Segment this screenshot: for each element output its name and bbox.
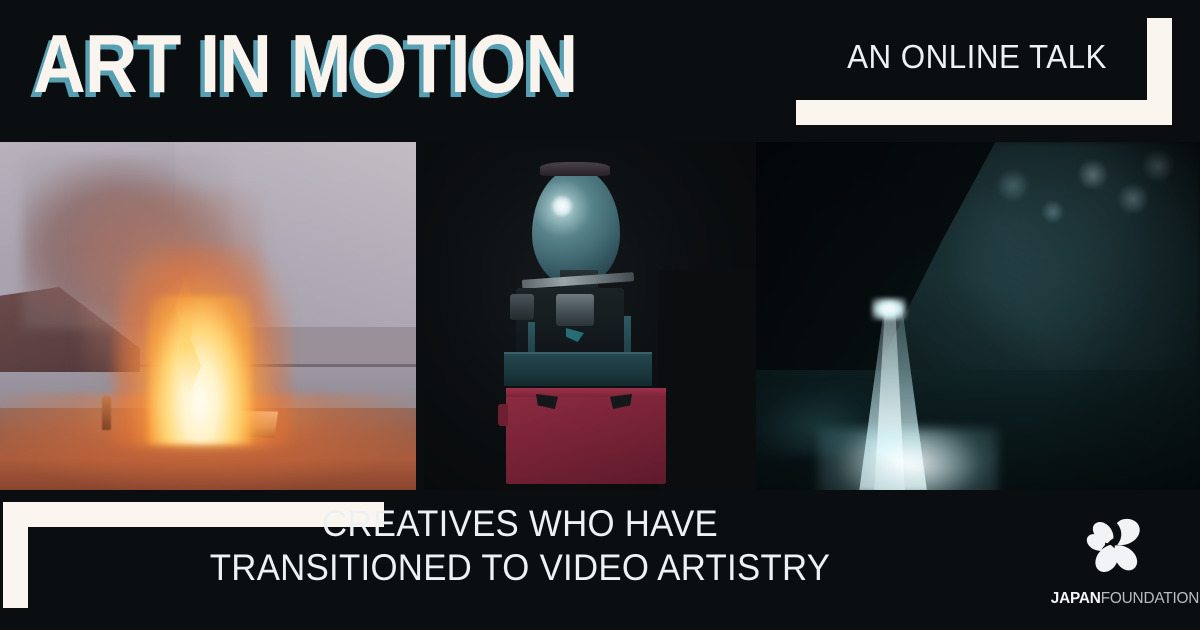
japan-foundation-wordmark: JAPANFOUNDATION — [1051, 590, 1182, 608]
logo-text-foundation: FOUNDATION — [1101, 590, 1199, 607]
image-panel-projector — [424, 142, 756, 490]
projector-base — [504, 354, 652, 386]
image-strip — [0, 142, 1200, 490]
japan-foundation-butterfly-icon — [1080, 518, 1152, 580]
subtitle-line-1: CREATIVES WHO HAVE — [172, 503, 868, 545]
flame-core — [148, 296, 252, 444]
image-panel-night — [756, 142, 1200, 490]
badge-bracket-horizontal — [796, 100, 1172, 125]
logo-text-japan: JAPAN — [1051, 590, 1101, 607]
page-title: ART IN MOTION — [33, 21, 577, 107]
subtitle-line-2: TRANSITIONED TO VIDEO ARTISTRY — [172, 547, 868, 589]
badge-label: AN ONLINE TALK — [826, 39, 1128, 75]
footer-bracket-vertical — [3, 502, 28, 608]
projector-lamp-highlight — [552, 196, 572, 216]
fire-figure — [102, 396, 111, 430]
projector-reel — [556, 294, 594, 326]
projector-lamp-cap — [540, 162, 610, 176]
projector-dark-wall — [658, 270, 756, 490]
projector-red-case — [506, 388, 666, 484]
subtitle: CREATIVES WHO HAVE TRANSITIONED TO VIDEO… — [172, 503, 868, 589]
night-vignette — [756, 142, 1200, 490]
image-panel-fire — [0, 142, 416, 490]
projector-case-handle — [498, 404, 508, 426]
poster-canvas: ART IN MOTION AN ONLINE TALK — [0, 0, 1200, 630]
projector-case-lip — [506, 388, 666, 397]
projector-lens — [510, 294, 534, 320]
japan-foundation-logo: JAPANFOUNDATION — [1048, 518, 1184, 610]
online-talk-badge: AN ONLINE TALK — [796, 18, 1172, 125]
